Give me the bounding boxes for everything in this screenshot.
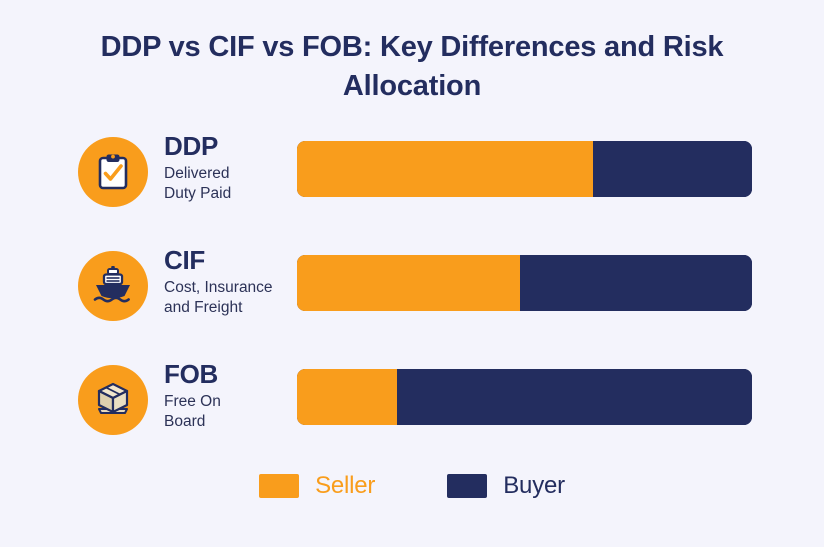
incoterm-code: DDP [164,132,300,161]
row-labels-fob: FOB Free On Board [164,360,300,431]
legend-swatch-buyer [447,474,487,498]
incoterm-code: FOB [164,360,300,389]
row-labels-cif: CIF Cost, Insurance and Freight [164,246,300,317]
stacked-bar-fob [297,369,752,425]
row-labels-ddp: DDP Delivered Duty Paid [164,132,300,203]
chart-row-fob: FOB Free On Board [0,360,824,446]
bar-segment-buyer [520,255,752,311]
incoterm-description: Cost, Insurance and Freight [164,278,300,317]
legend-label-buyer: Buyer [503,472,565,500]
bar-segment-seller [297,255,520,311]
legend-label-seller: Seller [315,472,375,500]
incoterms-comparison-infographic: DDP vs CIF vs FOB: Key Differences and R… [0,0,824,547]
bar-segment-seller [297,141,593,197]
bar-segment-seller [297,369,397,425]
chart-row-ddp: DDP Delivered Duty Paid [0,132,824,218]
stacked-bar-cif [297,255,752,311]
chart-legend: Seller Buyer [0,472,824,500]
chart-row-cif: CIF Cost, Insurance and Freight [0,246,824,332]
page-title: DDP vs CIF vs FOB: Key Differences and R… [62,28,762,105]
stacked-bar-ddp [297,141,752,197]
cargo-ship-icon [78,251,148,321]
clipboard-check-icon [78,137,148,207]
incoterm-description: Delivered Duty Paid [164,164,300,203]
bar-segment-buyer [397,369,752,425]
package-box-icon [78,365,148,435]
legend-swatch-seller [259,474,299,498]
legend-item-seller: Seller [259,472,375,500]
incoterm-code: CIF [164,246,300,275]
legend-item-buyer: Buyer [447,472,565,500]
bar-segment-buyer [593,141,752,197]
incoterm-description: Free On Board [164,392,300,431]
